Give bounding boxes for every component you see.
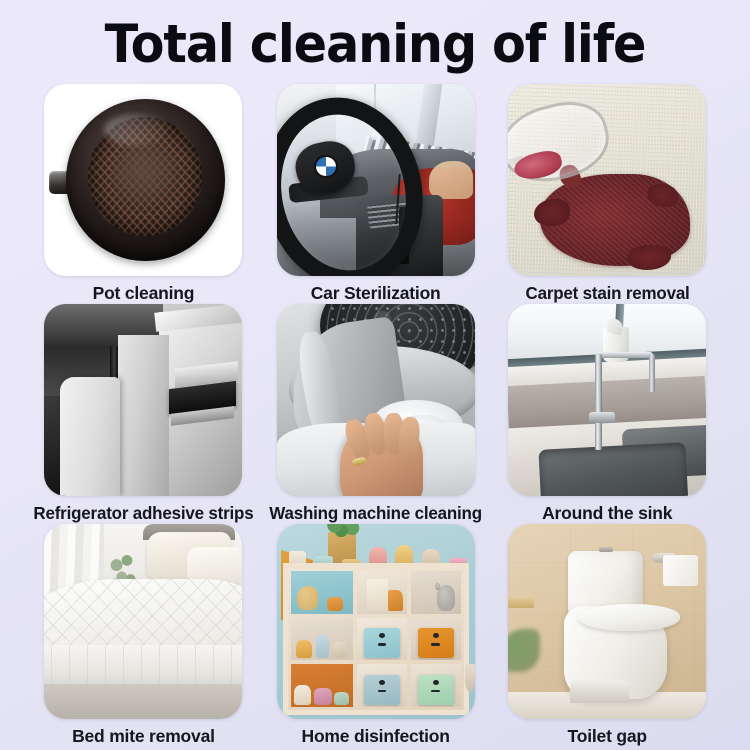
mattress-bed-photo[interactable] bbox=[44, 524, 242, 719]
faucet-arm bbox=[597, 352, 652, 358]
grid-item-label: Washing machine cleaning bbox=[269, 503, 482, 524]
shelf-teddy-bear bbox=[437, 585, 455, 611]
grid-item-label: Home disinfection bbox=[302, 726, 450, 747]
refrigerator-door-seal-photo[interactable] bbox=[44, 304, 242, 496]
shelf-toy-small bbox=[296, 640, 312, 658]
shelf-cube bbox=[291, 664, 353, 707]
sink-scene bbox=[508, 304, 706, 496]
wall-hook bbox=[465, 664, 475, 691]
washing-machine-drum-photo[interactable] bbox=[277, 304, 475, 496]
grid-item-label: Car Sterilization bbox=[311, 283, 441, 304]
bathroom-scene bbox=[508, 524, 706, 719]
shelf-toy-small bbox=[388, 590, 403, 611]
car-interior-photo[interactable] bbox=[277, 84, 475, 276]
shelf-toy-small bbox=[316, 634, 330, 658]
fridge-door-panel bbox=[60, 377, 119, 496]
grid-item-carpet-stain-removal[interactable]: Carpet stain removal bbox=[494, 84, 720, 304]
fridge-frame-inner bbox=[118, 335, 169, 496]
towel-bar bbox=[508, 598, 534, 608]
mattress-side bbox=[44, 645, 242, 688]
grid-item-toilet-gap[interactable]: Toilet gap bbox=[494, 524, 720, 748]
use-case-grid: Pot cleaning bbox=[30, 84, 720, 748]
faucet-column bbox=[595, 354, 602, 450]
shelf-storage-bin bbox=[418, 628, 454, 658]
shelf-storage-bin bbox=[364, 628, 400, 658]
shelf-toy-small bbox=[294, 685, 310, 705]
grid-item-washing-machine-cleaning[interactable]: Washing machine cleaning bbox=[263, 304, 489, 524]
kids-shelf-toys-photo[interactable] bbox=[277, 524, 475, 719]
bedroom-scene bbox=[44, 524, 242, 719]
grid-item-around-the-sink[interactable]: Around the sink bbox=[494, 304, 720, 524]
toilet-flush-button bbox=[599, 547, 613, 552]
car-scene bbox=[277, 84, 475, 276]
washing-machine-scene bbox=[277, 304, 475, 496]
grid-item-label: Pot cleaning bbox=[93, 283, 195, 304]
shelf-toy bbox=[297, 586, 318, 610]
grid-item-label: Refrigerator adhesive strips bbox=[33, 503, 253, 524]
toilet-seat-lid bbox=[578, 604, 681, 631]
shelf-storage-bin bbox=[364, 675, 400, 705]
burnt-pot-photo[interactable] bbox=[44, 84, 242, 276]
wine-stain-carpet-photo[interactable] bbox=[508, 84, 706, 276]
grid-item-car-sterilization[interactable]: Car Sterilization bbox=[263, 84, 489, 304]
carpet-scene bbox=[508, 84, 706, 276]
shelf-toy-small bbox=[327, 597, 343, 612]
grid-item-bed-mite-removal[interactable]: Bed mite removal bbox=[30, 524, 257, 748]
shelf-cube bbox=[357, 664, 407, 707]
car-seat-back bbox=[429, 161, 473, 199]
wine-stain-blob bbox=[627, 245, 671, 270]
faucet-handle bbox=[589, 412, 615, 424]
shelf-storage-bin bbox=[418, 675, 454, 705]
kids-room-scene bbox=[277, 524, 475, 719]
shelf-cube bbox=[291, 618, 353, 661]
refrigerator-scene bbox=[44, 304, 242, 496]
shelf-cube bbox=[357, 571, 407, 614]
shelf-toy-small bbox=[314, 688, 331, 704]
grid-item-label: Bed mite removal bbox=[72, 726, 215, 747]
shelf-book bbox=[367, 579, 388, 611]
sink-basin-left bbox=[538, 442, 688, 496]
pot-body bbox=[66, 99, 224, 260]
wine-stain-blob bbox=[534, 199, 570, 226]
promo-poster: Total cleaning of life Pot cleaning bbox=[0, 0, 750, 750]
shelf-cube bbox=[411, 664, 461, 707]
toilet-bathroom-photo[interactable] bbox=[508, 524, 706, 719]
bed-base bbox=[44, 684, 242, 719]
shelf-toy-small bbox=[334, 692, 349, 705]
grid-item-label: Around the sink bbox=[542, 503, 672, 524]
grid-item-label: Carpet stain removal bbox=[525, 283, 689, 304]
foreground-plant-leaf bbox=[508, 629, 540, 672]
pot-highlight bbox=[104, 114, 167, 146]
shelf-cube bbox=[411, 618, 461, 661]
kitchen-sink-faucet-photo[interactable] bbox=[508, 304, 706, 496]
shelf-toy-small bbox=[332, 642, 347, 657]
toilet-paper-roll bbox=[663, 555, 699, 586]
faucet-spout bbox=[649, 354, 655, 392]
shelf-cube bbox=[411, 571, 461, 614]
shelf-cube bbox=[291, 571, 353, 614]
page-title: Total cleaning of life bbox=[26, 14, 724, 76]
toilet-base bbox=[570, 680, 629, 703]
pot-scene bbox=[44, 84, 242, 276]
grid-item-home-disinfection[interactable]: Home disinfection bbox=[263, 524, 489, 748]
grid-item-pot-cleaning[interactable]: Pot cleaning bbox=[30, 84, 257, 304]
grid-item-refrigerator-adhesive-strips[interactable]: Refrigerator adhesive strips bbox=[30, 304, 257, 524]
grid-item-label: Toilet gap bbox=[568, 726, 647, 747]
kids-shelf-unit bbox=[283, 563, 469, 715]
shelf-cube bbox=[357, 618, 407, 661]
